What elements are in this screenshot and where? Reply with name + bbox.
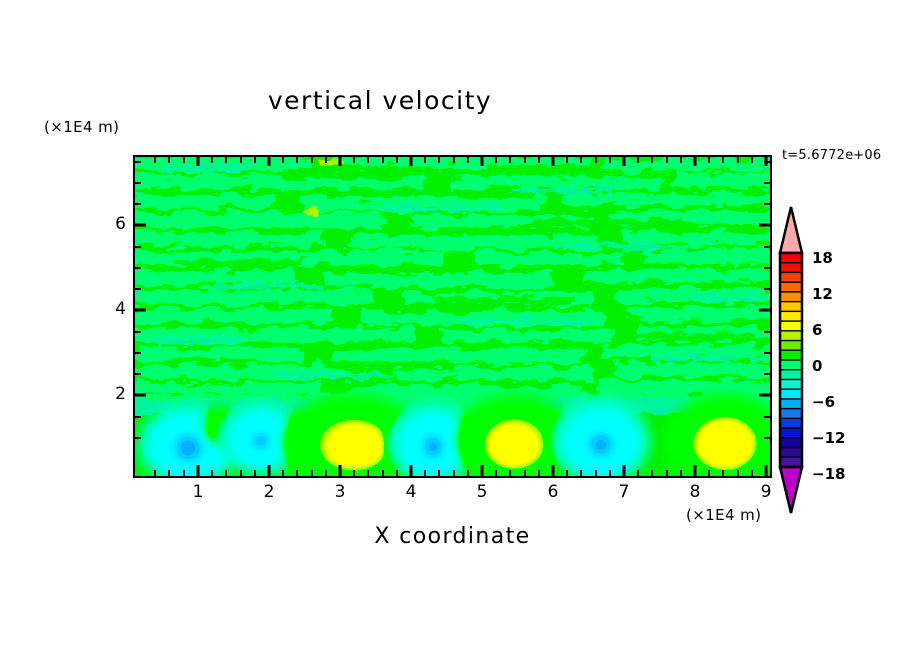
colorbar-bands bbox=[780, 253, 802, 467]
ytick-label: 2 bbox=[96, 384, 126, 404]
xtick-label: 7 bbox=[609, 482, 639, 502]
colorbar-band bbox=[780, 263, 802, 273]
colorbar-tick-label: −18 bbox=[812, 465, 845, 483]
colorbar-band bbox=[780, 331, 802, 341]
colorbar-band bbox=[780, 311, 802, 321]
colorbar-tick-label: 18 bbox=[812, 249, 833, 267]
colorbar-tick-label: 6 bbox=[812, 321, 822, 339]
xtick-label: 5 bbox=[467, 482, 497, 502]
xtick-label: 4 bbox=[396, 482, 426, 502]
xtick-label: 8 bbox=[680, 482, 710, 502]
xtick-label: 3 bbox=[325, 482, 355, 502]
colorbar-band bbox=[780, 302, 802, 312]
colorbar-band bbox=[780, 350, 802, 360]
colorbar-band bbox=[780, 341, 802, 351]
colorbar-band bbox=[780, 379, 802, 389]
colorbar-band bbox=[780, 360, 802, 370]
y-axis-title: Z coordinate bbox=[0, 230, 3, 450]
colorbar-tick-label: 0 bbox=[812, 357, 822, 375]
colorbar-under-arrow bbox=[780, 467, 802, 513]
colorbar-tick-label: −6 bbox=[812, 393, 835, 411]
timestamp-annotation: t=5.6772e+06 bbox=[782, 148, 881, 163]
colorbar-band bbox=[780, 428, 802, 438]
x-axis-unit-label: (×1E4 m) bbox=[686, 506, 761, 524]
colorbar-over-arrow bbox=[780, 207, 802, 253]
colorbar-band bbox=[780, 253, 802, 263]
colorbar-tick-label: −12 bbox=[812, 429, 845, 447]
colorbar-band bbox=[780, 282, 802, 292]
colorbar-band bbox=[780, 448, 802, 458]
colorbar-band bbox=[780, 272, 802, 282]
colorbar-band bbox=[780, 399, 802, 409]
x-axis-title: X coordinate bbox=[133, 524, 772, 549]
colorbar-band bbox=[780, 292, 802, 302]
contour-plot bbox=[133, 155, 772, 478]
colorbar-band bbox=[780, 321, 802, 331]
colorbar-band bbox=[780, 409, 802, 419]
colorbar-tick-label: 12 bbox=[812, 285, 833, 303]
colorbar-band bbox=[780, 438, 802, 448]
colorbar[interactable] bbox=[778, 205, 808, 515]
xtick-label: 9 bbox=[751, 482, 781, 502]
colorbar-band bbox=[780, 418, 802, 428]
page-title: vertical velocity bbox=[0, 86, 760, 115]
contour-field bbox=[133, 155, 772, 478]
colorbar-band bbox=[780, 370, 802, 380]
xtick-label: 2 bbox=[254, 482, 284, 502]
xtick-label: 6 bbox=[538, 482, 568, 502]
xtick-label: 1 bbox=[183, 482, 213, 502]
colorbar-band bbox=[780, 389, 802, 399]
figure-canvas: vertical velocity (×1E4 m) t=5.6772e+06 bbox=[0, 0, 904, 654]
ytick-label: 6 bbox=[96, 214, 126, 234]
y-axis-unit-label: (×1E4 m) bbox=[44, 118, 119, 136]
ytick-label: 4 bbox=[96, 299, 126, 319]
